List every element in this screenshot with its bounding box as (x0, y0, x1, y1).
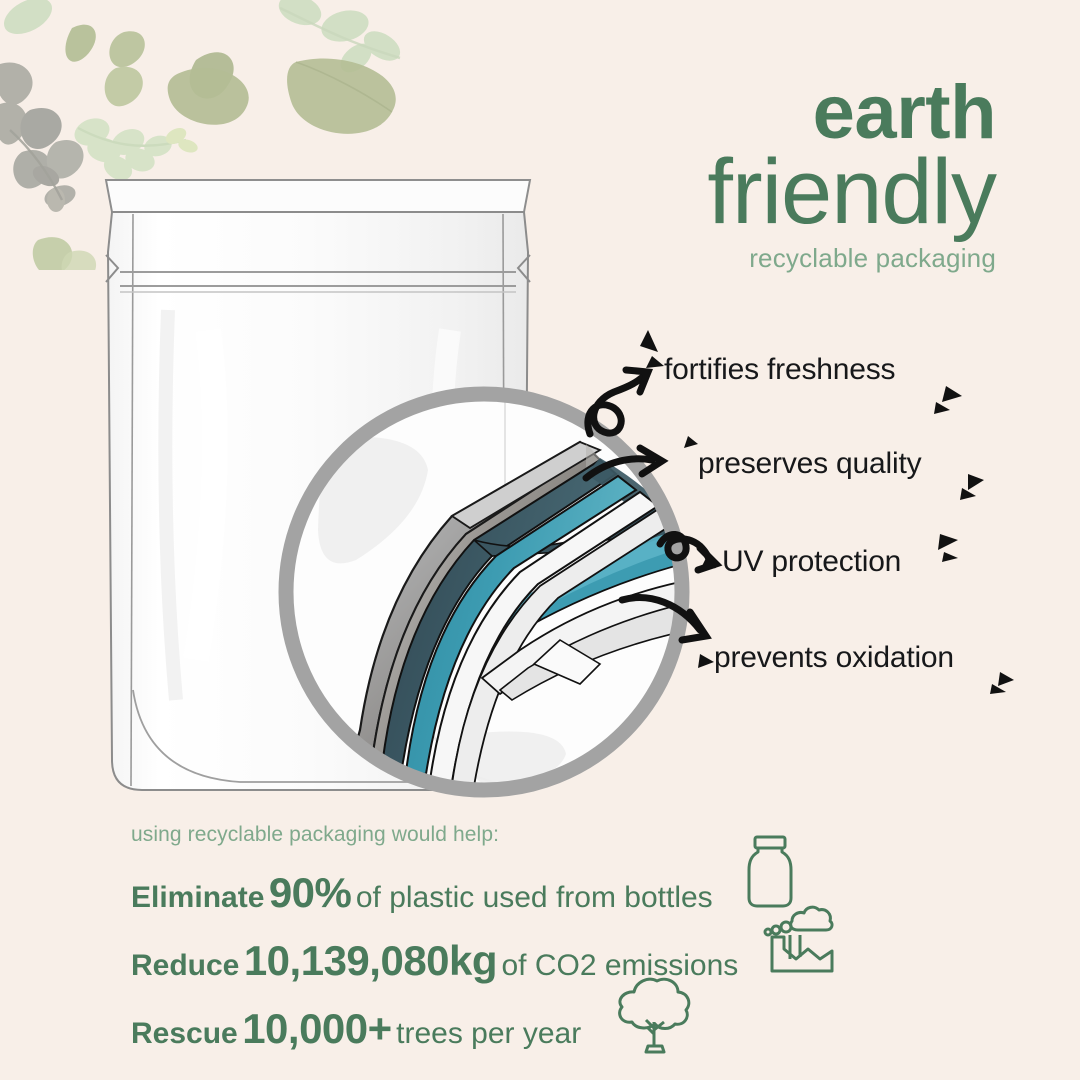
stat-verb: Rescue (131, 1017, 238, 1050)
feature-label-uv-protection: UV protection (722, 545, 901, 579)
tree-icon (604, 972, 698, 1056)
factory-smoke-icon (762, 903, 838, 975)
stat-verb: Eliminate (131, 881, 264, 914)
stat-tail: trees per year (396, 1017, 581, 1050)
stat-row: Eliminate 90% of plastic used from bottl… (131, 869, 738, 917)
infographic-canvas: earth friendly recyclable packaging fort… (0, 0, 1080, 1080)
stat-verb: Reduce (131, 949, 239, 982)
bottle-icon (742, 834, 798, 910)
headline-line-1: earth (707, 78, 996, 148)
headline-subtitle: recyclable packaging (707, 247, 996, 271)
stat-tail: of plastic used from bottles (356, 881, 713, 914)
feature-label-prevents-oxidation: prevents oxidation (714, 641, 954, 675)
stat-number: 10,000+ (242, 1005, 392, 1052)
headline-block: earth friendly recyclable packaging (707, 78, 996, 270)
stat-number: 10,139,080kg (244, 937, 497, 984)
feature-label-preserves-quality: preserves quality (698, 447, 921, 481)
feature-label-fortifies-freshness: fortifies freshness (664, 353, 895, 387)
headline-line-2: friendly (707, 150, 996, 235)
stat-number: 90% (269, 869, 352, 916)
stats-intro: using recyclable packaging would help: (131, 823, 738, 847)
